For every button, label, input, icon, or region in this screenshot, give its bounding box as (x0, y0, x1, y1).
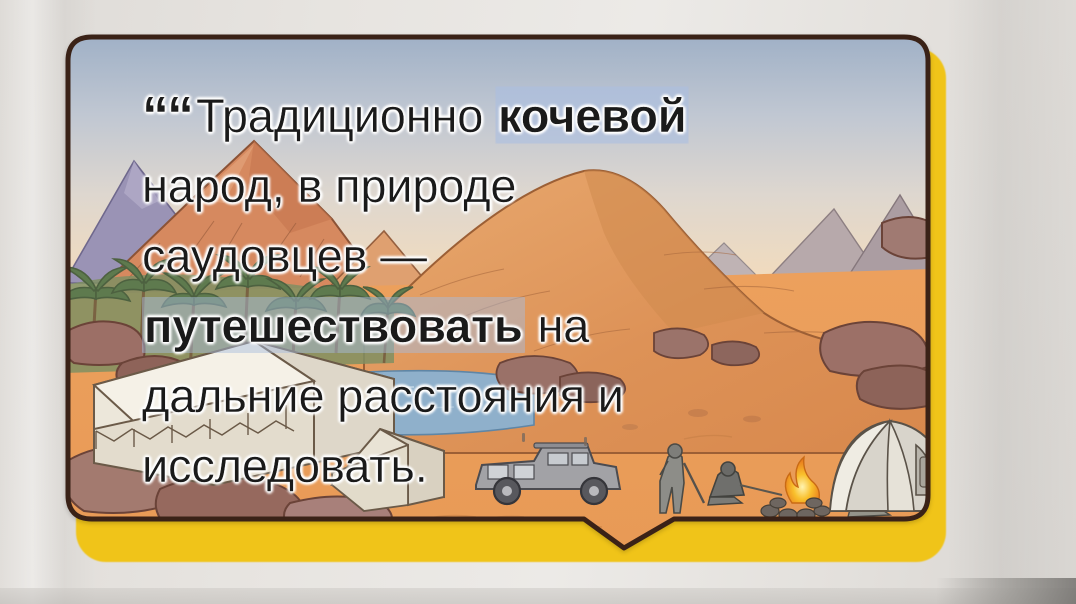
quote-text-block: ““Традиционно кочевой народ, в природе с… (64, 33, 932, 552)
quote-highlight-travel: путешествовать (142, 297, 525, 353)
quote-line-4: путешествовать на (142, 291, 892, 361)
quote-line-5: дальние расстояния и (142, 361, 892, 431)
quote-segment-plain: Традиционно (196, 89, 496, 142)
card-illustration-clip: ““Традиционно кочевой народ, в природе с… (64, 33, 932, 552)
quote-segment-plain: дальние расстояния и (142, 369, 624, 422)
quote-segment-plain: на (525, 299, 590, 352)
quote-segment-plain: саудовцев — (142, 229, 427, 282)
quote-line-2: народ, в природе (142, 151, 892, 221)
quote-line-6: исследовать. (142, 431, 892, 501)
quote-segment-plain: исследовать. (142, 439, 428, 492)
bottom-right-shade (936, 578, 1076, 604)
open-quote-icon: ““ (142, 86, 192, 146)
quote-segment-plain: народ, в природе (142, 159, 516, 212)
quote-line-1: ““Традиционно кочевой (142, 81, 892, 151)
quote-line-3: саудовцев — (142, 221, 892, 291)
quote-speech-bubble: ““Традиционно кочевой народ, в природе с… (64, 33, 932, 552)
screenshot-canvas: ““Традиционно кочевой народ, в природе с… (0, 0, 1076, 604)
quote-highlight-nomadic: кочевой (496, 87, 688, 143)
bottom-strip (0, 588, 1076, 604)
